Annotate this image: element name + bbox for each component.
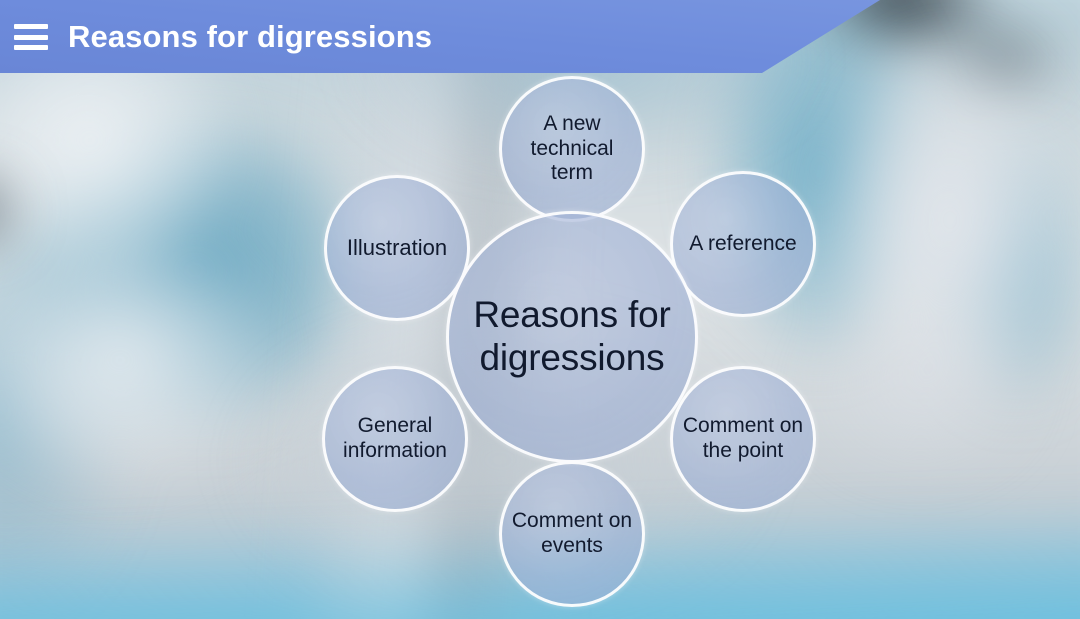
- slide-canvas: Reasons for digressions A new technical …: [0, 0, 1080, 619]
- node-label: General information: [325, 414, 465, 463]
- node-center-reasons-for-digressions[interactable]: Reasons for digressions: [446, 211, 698, 463]
- node-general-information[interactable]: General information: [322, 366, 468, 512]
- node-label: Illustration: [341, 235, 453, 261]
- center-node-label: Reasons for digressions: [449, 294, 695, 380]
- node-comment-on-events[interactable]: Comment on events: [499, 461, 645, 607]
- node-label: Comment on events: [502, 509, 642, 558]
- node-label: Comment on the point: [673, 414, 813, 463]
- node-label: A new technical term: [502, 112, 642, 186]
- node-comment-on-the-point[interactable]: Comment on the point: [670, 366, 816, 512]
- node-new-technical-term[interactable]: A new technical term: [499, 76, 645, 222]
- node-label: A reference: [683, 232, 802, 257]
- radial-diagram: A new technical term A reference Comment…: [0, 0, 1080, 619]
